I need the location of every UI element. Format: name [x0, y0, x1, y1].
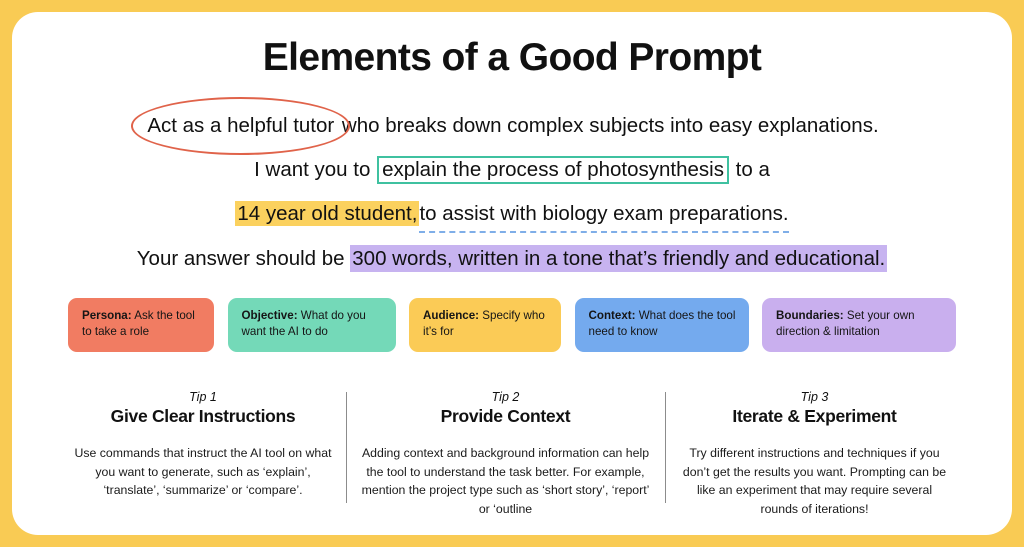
legend-chip-audience-label: Audience: — [423, 309, 479, 322]
tip-1-number: Tip 1 — [74, 390, 332, 404]
legend-chip-persona-label: Persona: — [82, 309, 132, 322]
prompt-example-block: Act as a helpful tutor who breaks down c… — [12, 112, 1012, 273]
prompt-line-4-before-text: Your answer should be — [137, 247, 351, 270]
legend-chip-persona: Persona: Ask the tool to take a role — [68, 298, 214, 352]
legend-chip-boundaries: Boundaries: Set your own direction & lim… — [762, 298, 956, 352]
legend-chip-audience-text: Audience: Specify who it’s for — [423, 308, 549, 341]
legend-chip-audience: Audience: Specify who it’s for — [409, 298, 561, 352]
prompt-line-1-rest-text: who breaks down complex subjects into ea… — [336, 114, 878, 137]
prompt-line-1: Act as a helpful tutor who breaks down c… — [12, 112, 1012, 140]
tip-2-number: Tip 2 — [360, 390, 651, 404]
legend-chip-objective-label: Objective: — [242, 309, 298, 322]
legend-chip-objective-text: Objective: What do you want the AI to do — [242, 308, 384, 341]
tip-3-body: Try different instructions and technique… — [679, 444, 950, 519]
legend-chip-objective: Objective: What do you want the AI to do — [228, 298, 396, 352]
prompt-line-3: 14 year old student, to assist with biol… — [12, 200, 1012, 229]
prompt-line-2: I want you to explain the process of pho… — [12, 156, 1012, 185]
tips-row: Tip 1 Give Clear Instructions Use comman… — [60, 390, 964, 523]
audience-highlight-annotation: 14 year old student, — [235, 201, 419, 226]
tip-3-number: Tip 3 — [679, 390, 950, 404]
prompt-line-4: Your answer should be 300 words, written… — [12, 245, 1012, 273]
legend-chip-context-text: Context: What does the tool need to know — [589, 308, 737, 341]
legend-chip-persona-text: Persona: Ask the tool to take a role — [82, 308, 202, 341]
tip-2-title: Provide Context — [360, 406, 651, 427]
boundaries-highlight-annotation: 300 words, written in a tone that’s frie… — [350, 245, 887, 272]
prompt-line-1-circled-text: Act as a helpful tutor — [147, 114, 334, 137]
legend-chip-context: Context: What does the tool need to know — [575, 298, 749, 352]
tip-1-title: Give Clear Instructions — [74, 406, 332, 427]
tip-2-body: Adding context and background informatio… — [360, 444, 651, 519]
tip-card-2: Tip 2 Provide Context Adding context and… — [346, 390, 665, 523]
page-title: Elements of a Good Prompt — [12, 36, 1012, 80]
prompt-line-2-before-text: I want you to — [254, 158, 376, 181]
legend-chip-boundaries-label: Boundaries: — [776, 309, 844, 322]
persona-circle-annotation: Act as a helpful tutor — [145, 112, 336, 140]
legend-chip-boundaries-text: Boundaries: Set your own direction & lim… — [776, 308, 944, 341]
context-underline-annotation: to assist with biology exam preparations… — [419, 200, 788, 229]
tip-3-title: Iterate & Experiment — [679, 406, 950, 427]
legend-row: Persona: Ask the tool to take a role Obj… — [68, 298, 956, 352]
tip-1-body: Use commands that instruct the AI tool o… — [74, 444, 332, 500]
tip-card-1: Tip 1 Give Clear Instructions Use comman… — [60, 390, 346, 523]
legend-chip-context-label: Context: — [589, 309, 636, 322]
infographic-card: Elements of a Good Prompt Act as a helpf… — [12, 12, 1012, 535]
tip-card-3: Tip 3 Iterate & Experiment Try different… — [665, 390, 964, 523]
prompt-line-2-after-text: to a — [730, 158, 770, 181]
infographic-frame: Elements of a Good Prompt Act as a helpf… — [0, 0, 1024, 547]
objective-box-annotation: explain the process of photosynthesis — [377, 156, 729, 185]
